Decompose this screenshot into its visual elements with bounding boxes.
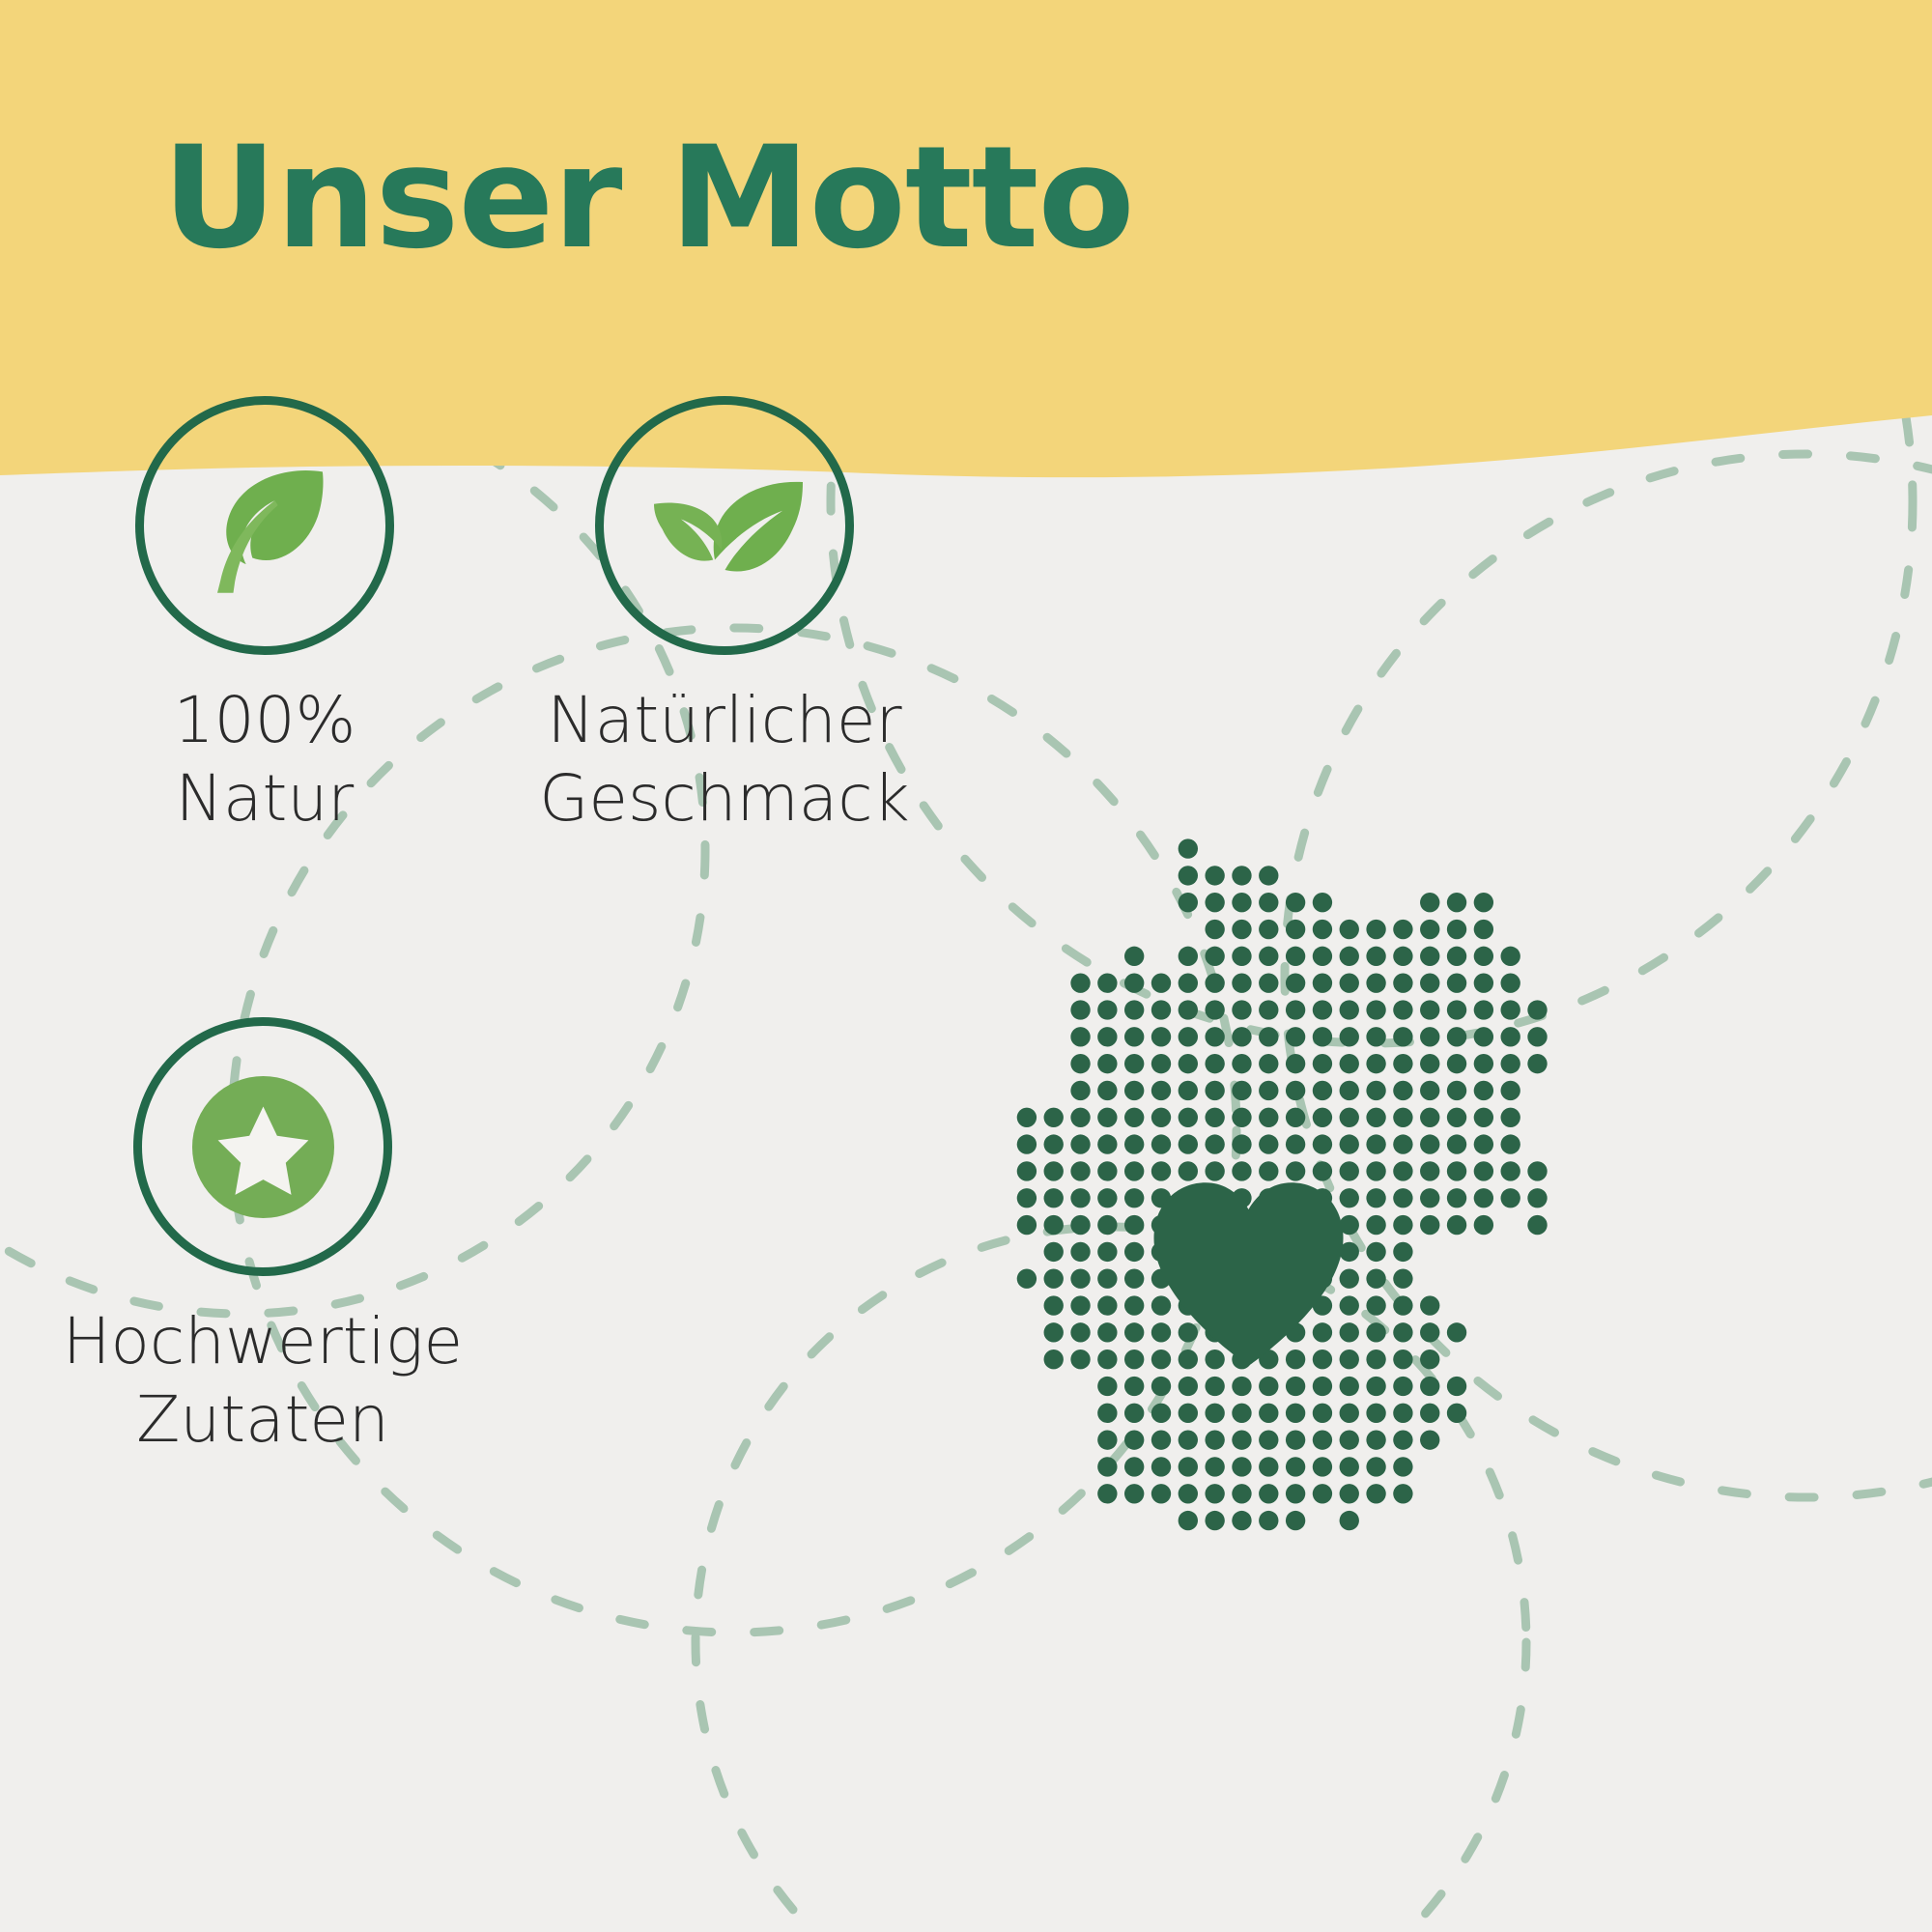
map-dot [1044,1188,1064,1207]
map-dot [1259,1000,1278,1019]
map-dot [1124,1377,1144,1396]
map-dot [1393,1027,1412,1046]
map-dot [1393,1269,1412,1289]
map-dot [1179,866,1198,885]
map-dot [1447,1054,1466,1073]
map-dot [1179,1430,1198,1449]
map-dot [1366,1188,1385,1207]
map-dot [1313,893,1332,912]
map-dot [1124,1161,1144,1180]
map-dot [1313,1134,1332,1153]
map-dot [1124,1430,1144,1449]
map-dot [1393,974,1412,993]
map-dot [1151,1377,1171,1396]
map-dot [1097,1404,1117,1423]
map-dot [1232,1054,1251,1073]
map-dot [1420,1322,1439,1342]
map-dot [1044,1350,1064,1369]
map-dot [1017,1269,1037,1289]
map-dot [1447,1404,1466,1423]
map-dot [1474,1134,1493,1153]
map-dot [1151,1027,1171,1046]
map-dot [1232,1134,1251,1153]
map-dot [1420,974,1439,993]
map-dot [1124,1457,1144,1476]
map-dot [1124,1108,1144,1127]
map-dot [1366,1350,1385,1369]
map-dot [1070,1000,1090,1019]
map-dot [1259,893,1278,912]
map-dot [1286,1000,1305,1019]
map-dot [1447,1081,1466,1100]
map-dot [1179,1027,1198,1046]
map-dot [1340,1081,1359,1100]
map-dot [1393,1377,1412,1396]
map-dot [1097,1108,1117,1127]
map-dot [1259,947,1278,966]
map-dot [1340,1457,1359,1476]
map-dot [1070,1295,1090,1315]
map-dot [1366,1377,1385,1396]
map-dot [1420,1430,1439,1449]
map-dot [1205,1027,1224,1046]
map-dot [1340,1027,1359,1046]
leaf-icon [185,446,345,606]
map-dot [1393,1081,1412,1100]
map-dot [1393,1134,1412,1153]
map-dot [1070,1269,1090,1289]
map-dot [1151,1404,1171,1423]
map-dot [1070,1350,1090,1369]
promo-graphic: Unser Motto 100% Natur Natürlicher Gesch… [0,0,1932,1932]
map-dot [1205,1134,1224,1153]
map-dot [1474,947,1493,966]
map-dot [1205,1000,1224,1019]
map-dot [1205,1457,1224,1476]
map-dot [1044,1215,1064,1235]
map-dot [1124,1295,1144,1315]
map-dot [1205,1081,1224,1100]
map-dot [1179,1484,1198,1503]
map-dot [1474,1027,1493,1046]
map-dot [1366,1404,1385,1423]
map-dot [1044,1295,1064,1315]
map-dot [1501,1054,1520,1073]
map-dot [1286,947,1305,966]
map-dot [1393,1188,1412,1207]
map-dot [1017,1188,1037,1207]
map-dot [1340,947,1359,966]
map-dot [1232,1484,1251,1503]
map-dot [1205,947,1224,966]
map-dot [1179,893,1198,912]
map-dot [1232,1000,1251,1019]
map-dot [1501,1027,1520,1046]
map-dot [1393,1322,1412,1342]
map-dot [1420,1027,1439,1046]
map-dot [1151,1457,1171,1476]
map-dot [1474,920,1493,939]
map-dot [1259,1134,1278,1153]
map-dot [1474,893,1493,912]
map-dot [1179,1054,1198,1073]
map-dot [1313,1430,1332,1449]
map-dot [1259,1377,1278,1396]
map-dot [1179,1134,1198,1153]
map-dot [1527,1215,1547,1235]
map-dot [1366,1134,1385,1153]
map-dot [1205,893,1224,912]
map-dot [1474,1188,1493,1207]
map-dot [1232,1081,1251,1100]
feature-item-natur[interactable]: 100% Natur [28,396,501,838]
heart-icon [1145,1179,1352,1368]
map-dot [1232,1511,1251,1530]
map-dot [1205,1511,1224,1530]
map-dot [1097,1322,1117,1342]
map-dot [1070,1134,1090,1153]
map-dot [1393,1350,1412,1369]
map-dot [1232,1108,1251,1127]
map-dot [1070,1108,1090,1127]
map-dot [1179,1081,1198,1100]
map-dot [1313,1377,1332,1396]
map-dot [1097,1430,1117,1449]
map-dot [1124,1350,1144,1369]
map-dot [1474,1054,1493,1073]
map-dot [1474,1000,1493,1019]
map-dot [1420,1054,1439,1073]
map-dot [1527,1000,1547,1019]
map-dot [1393,1054,1412,1073]
map-dot [1259,1430,1278,1449]
map-dot [1366,1000,1385,1019]
map-dot [1259,974,1278,993]
map-dot [1205,1430,1224,1449]
map-dot [1232,974,1251,993]
map-dot [1259,1404,1278,1423]
map-dot [1205,974,1224,993]
map-dot [1474,1215,1493,1235]
map-dot [1313,1054,1332,1073]
map-dot [1124,1027,1144,1046]
map-dot [1232,920,1251,939]
map-dot [1097,1027,1117,1046]
map-dot [1151,1430,1171,1449]
map-dot [1340,1108,1359,1127]
map-dot [1340,920,1359,939]
map-dot [1151,1081,1171,1100]
map-dot [1366,1242,1385,1262]
map-dot [1286,1027,1305,1046]
map-dot [1232,893,1251,912]
map-dot [1070,1027,1090,1046]
map-dot [1124,1215,1144,1235]
map-dot [1097,1188,1117,1207]
map-dot [1044,1242,1064,1262]
map-dot [1447,1134,1466,1153]
map-dot [1205,1484,1224,1503]
map-dot [1017,1108,1037,1127]
map-dot [1232,947,1251,966]
map-dot [1124,1242,1144,1262]
map-dot [1097,1161,1117,1180]
feature-item-geschmack[interactable]: Natürlicher Geschmack [488,396,961,838]
map-dot [1286,1511,1305,1530]
map-dot [1097,1242,1117,1262]
map-dot [1286,1457,1305,1476]
map-dot [1501,974,1520,993]
map-dot [1151,1054,1171,1073]
map-dot [1070,1161,1090,1180]
map-dot [1124,1000,1144,1019]
map-dot [1420,1188,1439,1207]
map-dot [1393,947,1412,966]
map-dot [1501,1081,1520,1100]
map-dot [1393,1000,1412,1019]
map-dot [1447,920,1466,939]
map-dot [1286,1054,1305,1073]
map-dot [1313,1081,1332,1100]
map-dot [1366,1054,1385,1073]
map-dot [1366,1215,1385,1235]
map-dot [1097,1215,1117,1235]
map-dot [1366,1027,1385,1046]
map-dot [1447,1108,1466,1127]
feature-label: 100% Natur [174,682,356,838]
map-dot [1286,1081,1305,1100]
map-dot [1286,1377,1305,1396]
map-dot [1420,1000,1439,1019]
map-dot [1070,1188,1090,1207]
map-dot [1313,920,1332,939]
map-dot [1501,1134,1520,1153]
two-leaves-check-icon [640,441,810,611]
map-dot [1366,947,1385,966]
map-dot [1366,1322,1385,1342]
map-dot [1179,1404,1198,1423]
map-dot [1393,1404,1412,1423]
map-dot [1420,1350,1439,1369]
map-dot [1366,1430,1385,1449]
map-dot [1124,1081,1144,1100]
map-dot [1340,1511,1359,1530]
map-dot [1420,1134,1439,1153]
feature-item-zutaten[interactable]: Hochwertige Zutaten [12,1017,514,1459]
map-dot [1393,1484,1412,1503]
map-dot [1097,1484,1117,1503]
map-dot [1447,1215,1466,1235]
map-dot [1124,1269,1144,1289]
map-dot [1070,1054,1090,1073]
map-dot [1393,1242,1412,1262]
feature-label: Natürlicher Geschmack [539,682,910,838]
map-dot [1366,1108,1385,1127]
map-dot [1313,1484,1332,1503]
map-dot [1259,920,1278,939]
map-dot [1179,1457,1198,1476]
map-dot [1366,1295,1385,1315]
map-dot [1124,974,1144,993]
page-title: Unser Motto [162,128,1134,269]
map-dot [1097,1054,1117,1073]
map-dot [1420,920,1439,939]
map-dot [1232,1430,1251,1449]
map-dot [1447,974,1466,993]
map-dot [1393,1457,1412,1476]
map-dot [1313,974,1332,993]
map-dot [1259,1108,1278,1127]
map-dot [1044,1161,1064,1180]
map-dot [1340,1054,1359,1073]
map-dot [1393,920,1412,939]
map-dot [1232,1457,1251,1476]
map-dot [1340,1484,1359,1503]
map-dot [1286,1430,1305,1449]
map-dot [1501,1108,1520,1127]
map-dot [1097,1350,1117,1369]
map-dot [1070,1215,1090,1235]
map-dot [1340,1404,1359,1423]
map-dot [1205,1108,1224,1127]
map-dot [1420,1108,1439,1127]
map-dot [1420,893,1439,912]
map-dot [1366,1484,1385,1503]
map-dot [1474,1081,1493,1100]
map-dot [1366,1269,1385,1289]
map-dot [1366,974,1385,993]
map-dot [1366,1161,1385,1180]
map-dot [1286,1134,1305,1153]
map-dot [1179,1511,1198,1530]
map-dot [1447,1188,1466,1207]
map-dot [1259,1027,1278,1046]
map-dot [1179,1108,1198,1127]
feature-label: Hochwertige Zutaten [63,1303,463,1459]
map-dot [1232,1027,1251,1046]
map-dot [1340,1134,1359,1153]
map-dot [1259,1484,1278,1503]
star-badge-icon [179,1063,348,1232]
map-dot [1097,1000,1117,1019]
map-dot [1393,1215,1412,1235]
map-dot [1097,974,1117,993]
map-dot [1097,1134,1117,1153]
map-dot [1366,1457,1385,1476]
map-dot [1179,947,1198,966]
map-dot [1313,1404,1332,1423]
map-dot [1447,947,1466,966]
map-dot [1070,1322,1090,1342]
map-dot [1124,947,1144,966]
map-dot [1259,1457,1278,1476]
map-dot [1259,1081,1278,1100]
map-dot [1044,1134,1064,1153]
map-dot [1420,1377,1439,1396]
map-dot [1179,838,1198,858]
map-dot [1420,1404,1439,1423]
map-dot [1340,1430,1359,1449]
map-dot [1313,1457,1332,1476]
map-dot [1501,947,1520,966]
map-dot [1286,920,1305,939]
map-dot [1447,1161,1466,1180]
map-dot [1205,866,1224,885]
map-dot [1313,1108,1332,1127]
map-dot [1151,974,1171,993]
map-dot [1474,1108,1493,1127]
map-dot [1420,947,1439,966]
map-dot [1205,1377,1224,1396]
map-dot [1340,1000,1359,1019]
map-dot [1474,1161,1493,1180]
map-dot [1232,866,1251,885]
map-dot [1151,1000,1171,1019]
map-dot [1097,1269,1117,1289]
map-dot [1527,1161,1547,1180]
map-dot [1286,893,1305,912]
map-dot [1340,1377,1359,1396]
map-dot [1070,974,1090,993]
map-dot [1527,1054,1547,1073]
map-dot [1124,1404,1144,1423]
map-dot [1097,1081,1117,1100]
map-dot [1286,974,1305,993]
map-dot [1124,1134,1144,1153]
map-dot [1124,1188,1144,1207]
map-dot [1259,1054,1278,1073]
map-dot [1097,1377,1117,1396]
map-dot [1070,1242,1090,1262]
map-dot [1124,1484,1144,1503]
map-dot [1017,1215,1037,1235]
map-dot [1259,866,1278,885]
map-dot [1366,1081,1385,1100]
map-dot [1179,1377,1198,1396]
map-dot [1527,1188,1547,1207]
map-dot [1447,1027,1466,1046]
map-dot [1205,920,1224,939]
map-dot [1501,1188,1520,1207]
map-dot [1044,1322,1064,1342]
map-dot [1393,1430,1412,1449]
map-dot [1070,1081,1090,1100]
map-dot [1447,1322,1466,1342]
map-dot [1232,1377,1251,1396]
map-dot [1205,1054,1224,1073]
map-dot [1447,893,1466,912]
map-dot [1044,1108,1064,1127]
map-dot [1420,1081,1439,1100]
map-dot [1501,1161,1520,1180]
map-dot [1340,974,1359,993]
map-dot [1179,1000,1198,1019]
map-dot [1393,1295,1412,1315]
map-dot [1527,1027,1547,1046]
map-dot [1017,1161,1037,1180]
map-dot [1393,1108,1412,1127]
map-dot [1286,1404,1305,1423]
map-dot [1124,1054,1144,1073]
feature-badge-ring [595,396,854,655]
map-dot [1179,974,1198,993]
map-dot [1420,1295,1439,1315]
map-dot [1366,920,1385,939]
map-dot [1097,1295,1117,1315]
map-dot [1124,1322,1144,1342]
map-dot [1286,1108,1305,1127]
map-dot [1313,947,1332,966]
